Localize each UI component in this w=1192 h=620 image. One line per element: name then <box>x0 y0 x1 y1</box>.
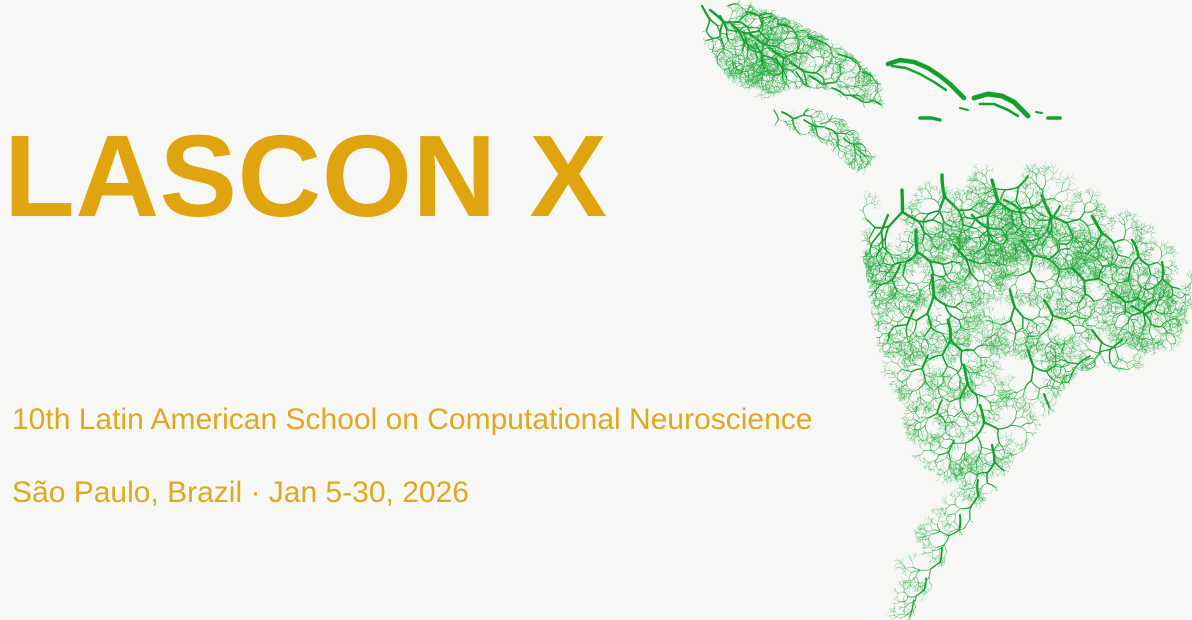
event-location-date: São Paulo, Brazil · Jan 5-30, 2026 <box>12 475 469 511</box>
neuron-map-svg <box>692 0 1192 620</box>
dendrite-branches <box>702 1 1192 620</box>
latin-america-neuron-map <box>692 0 1192 620</box>
page-title: LASCON X <box>4 118 607 234</box>
poster-canvas: LASCON X 10th Latin American School on C… <box>0 0 1192 620</box>
